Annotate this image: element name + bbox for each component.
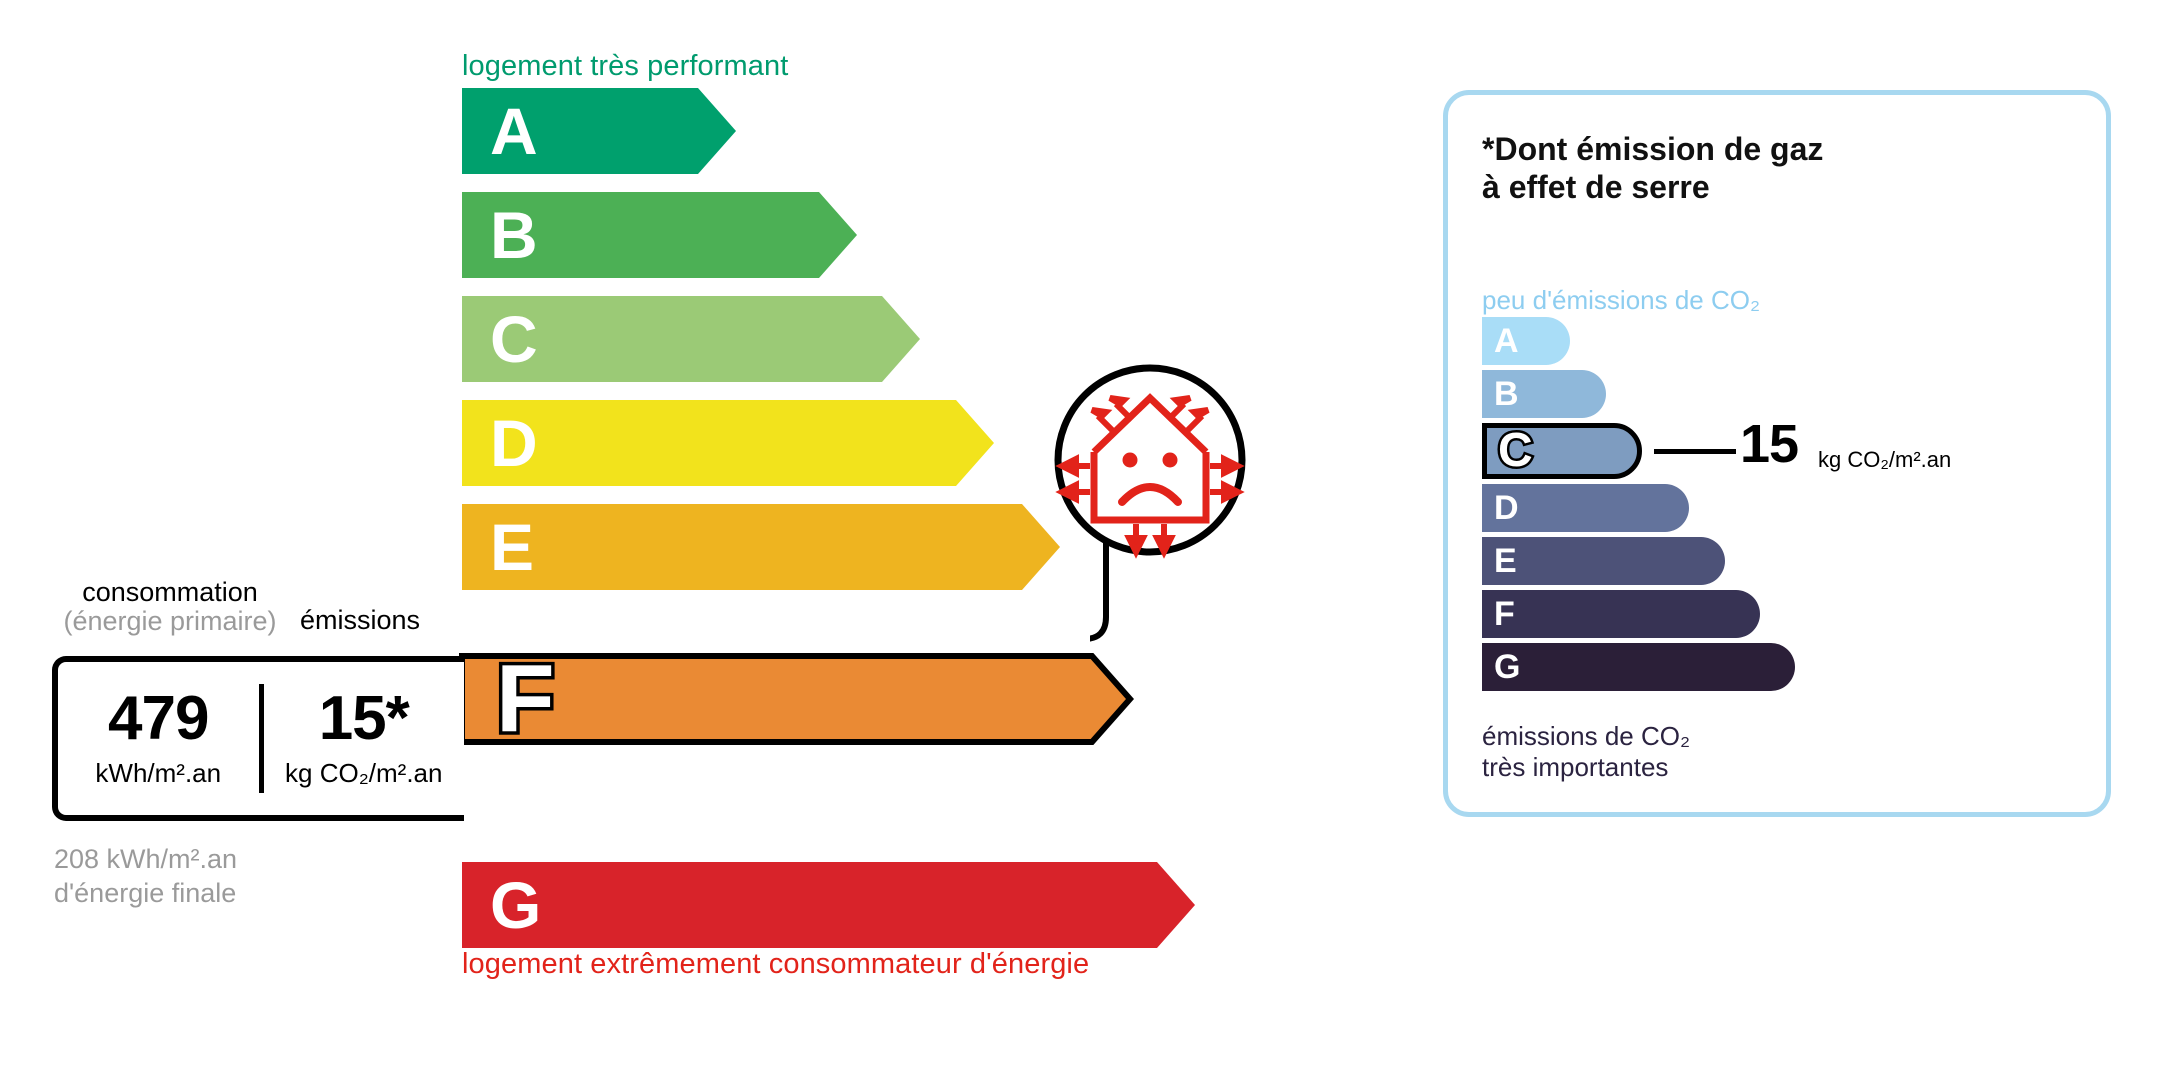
emissions-value: 15* [319,688,409,750]
ges-class-letter-B: B [1494,377,1519,411]
consumption-value: 479 [108,688,208,750]
energy-class-row-D[interactable]: D [462,400,956,486]
ges-class-row-D[interactable]: D [1482,484,2082,532]
ges-class-row-E[interactable]: E [1482,537,2082,585]
ges-bar-F [1482,590,1760,638]
ges-bar-G [1482,643,1795,691]
energy-scale-bottom-label: logement extrêmement consommateur d'éner… [462,948,1089,981]
ges-class-row-B[interactable]: B [1482,370,2082,418]
energy-bar-E [462,504,1060,590]
emissions-value-cell: 15* kg CO₂/m².an [264,662,465,815]
sad-house-icon [1050,360,1250,570]
final-energy-note: 208 kWh/m².an d'énergie finale [54,843,237,911]
ges-class-letter-G: G [1494,650,1520,684]
consumption-value-cell: 479 kWh/m².an [58,662,259,815]
energy-bar-G [462,862,1195,948]
ges-class-row-C[interactable]: C15kg CO₂/m².an [1482,423,2082,479]
ges-class-letter-A: A [1494,324,1519,358]
energy-class-letter-B: B [490,202,538,268]
energy-scale-panel: logement très performant ABCDEFG logemen… [0,0,1400,1079]
ges-bottom-label: émissions de CO₂ très importantes [1482,721,1690,783]
energy-bar-F [456,650,1136,736]
ges-class-letter-D: D [1494,491,1519,525]
energy-class-row-F[interactable]: F [462,656,1092,742]
consumption-label: consommation (énergie primaire) [50,578,290,636]
ges-value-unit: kg CO₂/m².an [1818,447,1951,473]
value-box: 479 kWh/m².an 15* kg CO₂/m².an [52,656,464,821]
energy-class-letter-A: A [490,98,538,164]
energy-class-row-A[interactable]: A [462,88,698,174]
consumption-label-main: consommation [82,577,258,607]
energy-class-row-G[interactable]: G [462,862,1157,948]
energy-class-letter-G: G [490,872,541,938]
energy-class-letter-F: F [496,651,555,747]
ges-class-row-G[interactable]: G [1482,643,2082,691]
energy-class-letter-C: C [490,306,538,372]
emissions-label: émissions [300,605,420,636]
energy-class-letter-E: E [490,514,534,580]
ges-class-letter-F: F [1494,597,1515,631]
ges-class-letter-C: C [1498,427,1533,475]
energy-class-row-B[interactable]: B [462,192,819,278]
ges-class-row-F[interactable]: F [1482,590,2082,638]
consumption-unit: kWh/m².an [95,758,221,789]
ges-class-letter-E: E [1494,544,1517,578]
ges-top-label: peu d'émissions de CO₂ [1482,285,1760,316]
energy-class-letter-D: D [490,410,538,476]
ges-rows: ABC15kg CO₂/m².anDEFG [1482,317,2082,696]
ges-panel: *Dont émission de gaz à effet de serre p… [1443,90,2111,817]
ges-class-row-A[interactable]: A [1482,317,2082,365]
energy-bar-D [462,400,994,486]
consumption-label-sub: (énergie primaire) [50,607,290,636]
ges-bar-E [1482,537,1725,585]
emissions-unit: kg CO₂/m².an [285,758,442,789]
dpe-diagram: logement très performant ABCDEFG logemen… [0,0,2169,1079]
ges-panel-title: *Dont émission de gaz à effet de serre [1482,131,1823,207]
energy-class-row-C[interactable]: C [462,296,882,382]
ges-leader-line [1654,449,1736,454]
ges-value: 15 [1740,417,1798,471]
energy-class-row-E[interactable]: E [462,504,1022,590]
